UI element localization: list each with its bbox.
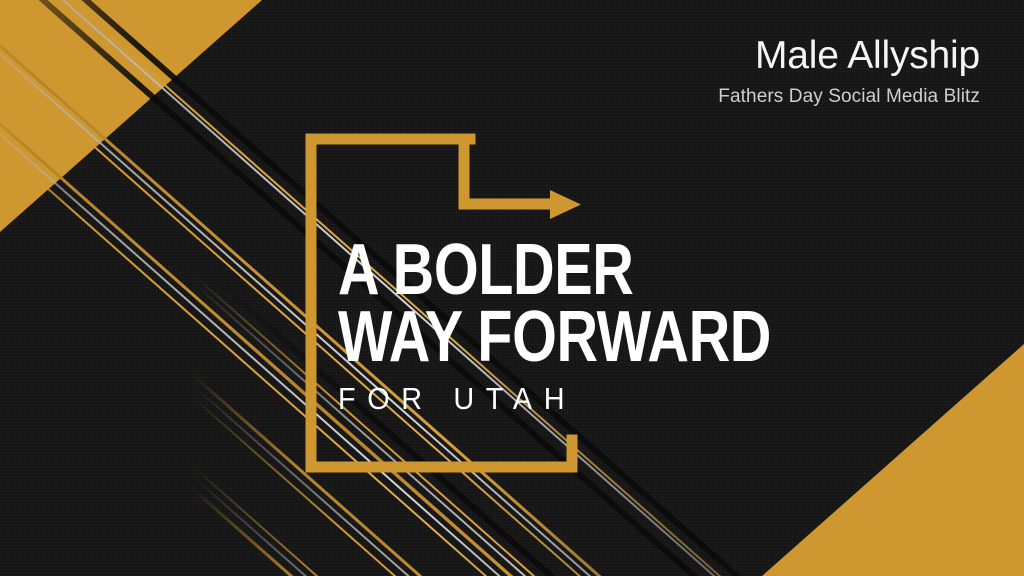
headline-block: Male Allyship Fathers Day Social Media B… [718,36,980,108]
corner-wedge-top-left-icon [0,0,262,232]
slide-subtitle: Fathers Day Social Media Blitz [718,86,980,108]
slide-title: Male Allyship [718,36,980,77]
presentation-slide: Male Allyship Fathers Day Social Media B… [0,0,1024,576]
logo-tagline: FOR UTAH [338,381,766,417]
logo-line-1: A BOLDER [338,238,706,303]
brand-logo-wordmark: A BOLDER WAY FORWARD FOR UTAH [338,238,798,417]
logo-line-2: WAY FORWARD [338,305,706,370]
brand-logo: A BOLDER WAY FORWARD FOR UTAH [300,128,600,478]
corner-wedge-bottom-right-icon [762,344,1024,576]
